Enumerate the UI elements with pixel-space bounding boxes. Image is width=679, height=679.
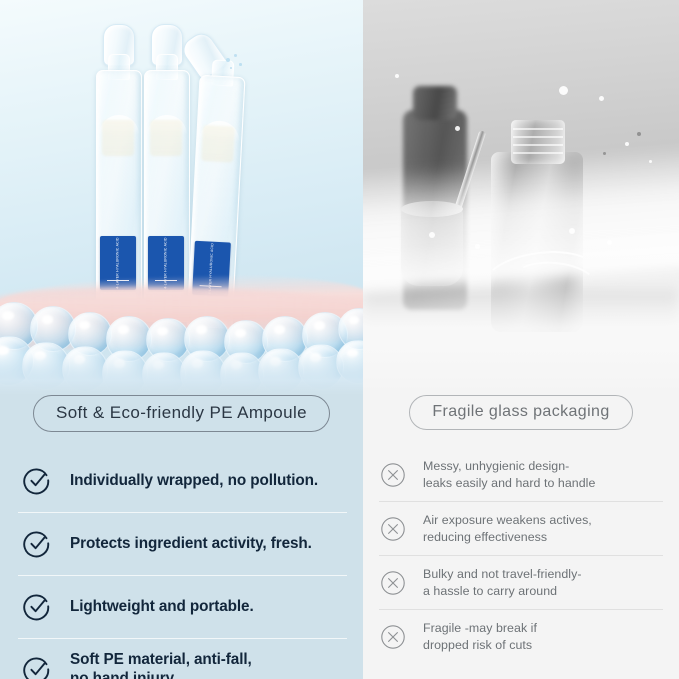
right-panel-glass-packaging: Fragile glass packaging Messy, unhygieni… xyxy=(363,0,679,679)
list-item-text: Soft PE material, anti-fall,no hand inju… xyxy=(70,651,349,679)
x-circle-icon xyxy=(377,459,409,491)
list-item[interactable]: Protects ingredient activity, fresh. xyxy=(16,513,349,575)
list-item-text: Messy, unhygienic design-leaks easily an… xyxy=(423,458,665,491)
left-hero-image: 4-LAYER HYALURONIC ACID xyxy=(0,0,363,395)
list-item[interactable]: Soft PE material, anti-fall,no hand inju… xyxy=(16,639,349,679)
list-item[interactable]: Messy, unhygienic design-leaks easily an… xyxy=(377,448,665,501)
x-circle-icon xyxy=(377,513,409,545)
list-item[interactable]: Individually wrapped, no pollution. xyxy=(16,450,349,512)
droplet-splash xyxy=(224,54,250,74)
x-circle-icon xyxy=(377,621,409,653)
water-molecule-bubbles xyxy=(0,296,363,395)
list-item[interactable]: Bulky and not travel-friendly-a hassle t… xyxy=(377,556,665,609)
ampoule-group: 4-LAYER HYALURONIC ACID xyxy=(96,18,256,318)
check-circle-icon xyxy=(16,586,58,628)
left-content: Soft & Eco-friendly PE Ampoule Individua… xyxy=(0,395,363,679)
glass-bottle-background-cap xyxy=(413,86,457,120)
list-item[interactable]: Fragile -may break ifdropped risk of cut… xyxy=(377,610,665,663)
right-drawbacks-list: Messy, unhygienic design-leaks easily an… xyxy=(363,448,679,663)
list-item-text: Bulky and not travel-friendly-a hassle t… xyxy=(423,566,665,599)
list-item-text: Fragile -may break ifdropped risk of cut… xyxy=(423,620,665,653)
right-hero-image xyxy=(363,0,679,395)
ampoule-3-open: 4-LAYER HYALURONIC ACID xyxy=(202,29,246,31)
left-benefits-list: Individually wrapped, no pollution. Prot… xyxy=(0,450,363,679)
list-item-text: Lightweight and portable. xyxy=(70,598,349,617)
ampoule-fluid xyxy=(201,125,235,163)
list-item[interactable]: Lightweight and portable. xyxy=(16,576,349,638)
x-circle-icon xyxy=(377,567,409,599)
list-item[interactable]: Air exposure weakens actives,reducing ef… xyxy=(377,502,665,555)
ampoule-fluid xyxy=(102,120,134,156)
left-header-pill: Soft & Eco-friendly PE Ampoule xyxy=(33,395,330,432)
ampoule-fluid xyxy=(150,120,182,156)
right-content: Fragile glass packaging Messy, unhygieni… xyxy=(363,395,679,663)
check-circle-icon xyxy=(16,649,58,679)
list-item-text: Individually wrapped, no pollution. xyxy=(70,472,349,491)
check-circle-icon xyxy=(16,523,58,565)
check-circle-icon xyxy=(16,460,58,502)
list-item-text: Air exposure weakens actives,reducing ef… xyxy=(423,512,665,545)
comparison-infographic: 4-LAYER HYALURONIC ACID xyxy=(0,0,679,679)
right-header-pill: Fragile glass packaging xyxy=(409,395,632,430)
list-item-text: Protects ingredient activity, fresh. xyxy=(70,535,349,554)
left-panel-pe-ampoule: 4-LAYER HYALURONIC ACID xyxy=(0,0,363,679)
